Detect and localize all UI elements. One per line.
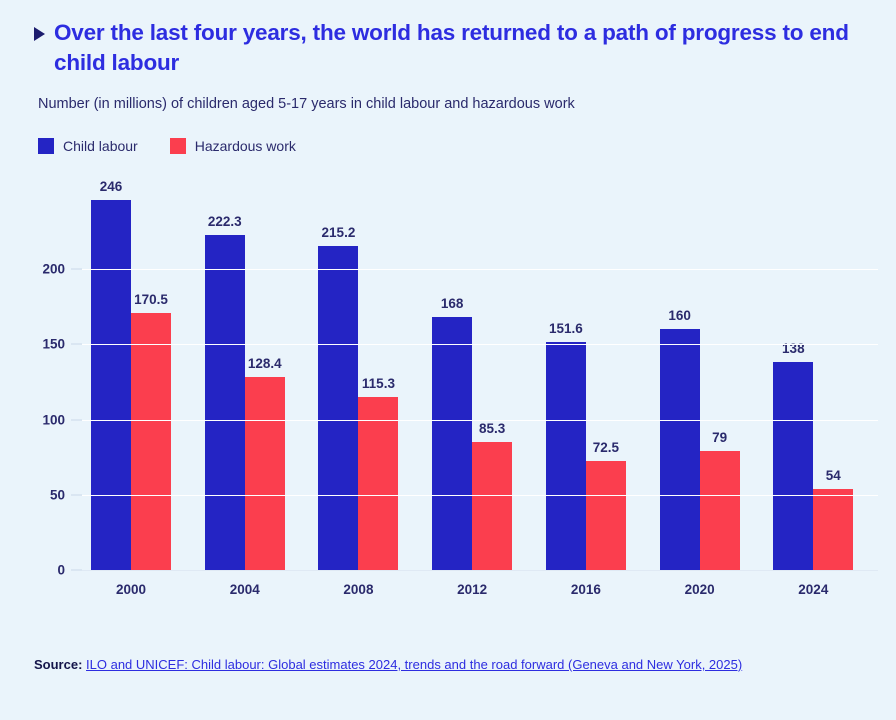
- bar-hazardous-work[interactable]: 115.3: [358, 397, 398, 571]
- x-axis-tick-label: 2020: [685, 582, 715, 597]
- bar-child-labour[interactable]: 151.6: [546, 342, 586, 571]
- y-axis-tick-label: 100: [42, 412, 82, 427]
- bar-child-labour[interactable]: 246: [91, 200, 131, 571]
- bar-value-label: 222.3: [208, 214, 242, 229]
- bar-value-label: 160: [668, 308, 691, 323]
- plot-area: 246170.52000222.3128.42004215.2115.32008…: [82, 178, 878, 570]
- source-link[interactable]: ILO and UNICEF: Child labour: Global est…: [86, 657, 742, 672]
- bar-group: 16885.32012: [423, 178, 537, 570]
- bar-value-label: 72.5: [593, 440, 619, 455]
- x-axis-tick-label: 2012: [457, 582, 487, 597]
- bar-value-label: 115.3: [362, 376, 395, 391]
- y-axis-tick-label: 200: [42, 261, 82, 276]
- bar-child-labour[interactable]: 215.2: [318, 246, 358, 570]
- gridline: [82, 570, 878, 571]
- legend-item[interactable]: Hazardous work: [170, 138, 296, 154]
- y-axis-tick-label: 0: [57, 563, 82, 578]
- chart-subtitle: Number (in millions) of children aged 5-…: [38, 95, 862, 115]
- x-axis-tick-label: 2024: [798, 582, 828, 597]
- legend-swatch-icon: [38, 138, 54, 154]
- bar-child-labour[interactable]: 168: [432, 317, 472, 570]
- x-axis-tick-label: 2016: [571, 582, 601, 597]
- bar-value-label: 170.5: [134, 292, 168, 307]
- bar-group: 215.2115.32008: [309, 178, 423, 570]
- y-axis-tick-label: 50: [50, 488, 82, 503]
- bar-hazardous-work[interactable]: 72.5: [586, 461, 626, 570]
- bar-child-labour[interactable]: 160: [660, 329, 700, 570]
- bar-value-label: 128.4: [248, 356, 282, 371]
- gridline: [82, 495, 878, 496]
- gridline: [82, 420, 878, 421]
- bar-value-label: 246: [100, 179, 123, 194]
- bar-value-label: 85.3: [479, 421, 505, 436]
- gridline: [82, 344, 878, 345]
- bar-group: 138542024: [764, 178, 878, 570]
- bar-groups: 246170.52000222.3128.42004215.2115.32008…: [82, 178, 878, 570]
- bar-child-labour[interactable]: 138: [773, 362, 813, 570]
- bar-value-label: 79: [712, 430, 727, 445]
- legend-label: Hazardous work: [195, 138, 296, 154]
- bar-group: 160792020: [651, 178, 765, 570]
- bar-group: 246170.52000: [82, 178, 196, 570]
- bar-hazardous-work[interactable]: 54: [813, 489, 853, 570]
- bar-value-label: 151.6: [549, 321, 583, 336]
- y-axis-tick-label: 150: [42, 337, 82, 352]
- chart-page: { "header": { "marker_icon": "triangle-r…: [0, 0, 896, 720]
- plot-wrapper: 246170.52000222.3128.42004215.2115.32008…: [0, 166, 896, 606]
- bar-value-label: 168: [441, 296, 464, 311]
- chart-header: Over the last four years, the world has …: [0, 0, 896, 114]
- x-axis-tick-label: 2008: [343, 582, 373, 597]
- bar-hazardous-work[interactable]: 85.3: [472, 442, 512, 571]
- title-row: Over the last four years, the world has …: [34, 18, 862, 78]
- bar-hazardous-work[interactable]: 128.4: [245, 377, 285, 571]
- bar-group: 151.672.52016: [537, 178, 651, 570]
- source-label: Source:: [34, 657, 82, 672]
- bar-hazardous-work[interactable]: 79: [700, 451, 740, 570]
- legend-swatch-icon: [170, 138, 186, 154]
- bar-value-label: 215.2: [322, 225, 356, 240]
- x-axis-tick-label: 2004: [230, 582, 260, 597]
- bar-hazardous-work[interactable]: 170.5: [131, 313, 171, 570]
- bar-child-labour[interactable]: 222.3: [205, 235, 245, 570]
- bar-group: 222.3128.42004: [196, 178, 310, 570]
- gridline: [82, 269, 878, 270]
- legend-label: Child labour: [63, 138, 138, 154]
- bar-value-label: 54: [826, 468, 841, 483]
- x-axis-tick-label: 2000: [116, 582, 146, 597]
- chart-legend: Child labourHazardous work: [38, 138, 896, 154]
- source-note: Source: ILO and UNICEF: Child labour: Gl…: [34, 655, 870, 675]
- triangle-right-icon: [34, 27, 45, 41]
- legend-item[interactable]: Child labour: [38, 138, 138, 154]
- page-title: Over the last four years, the world has …: [54, 18, 862, 78]
